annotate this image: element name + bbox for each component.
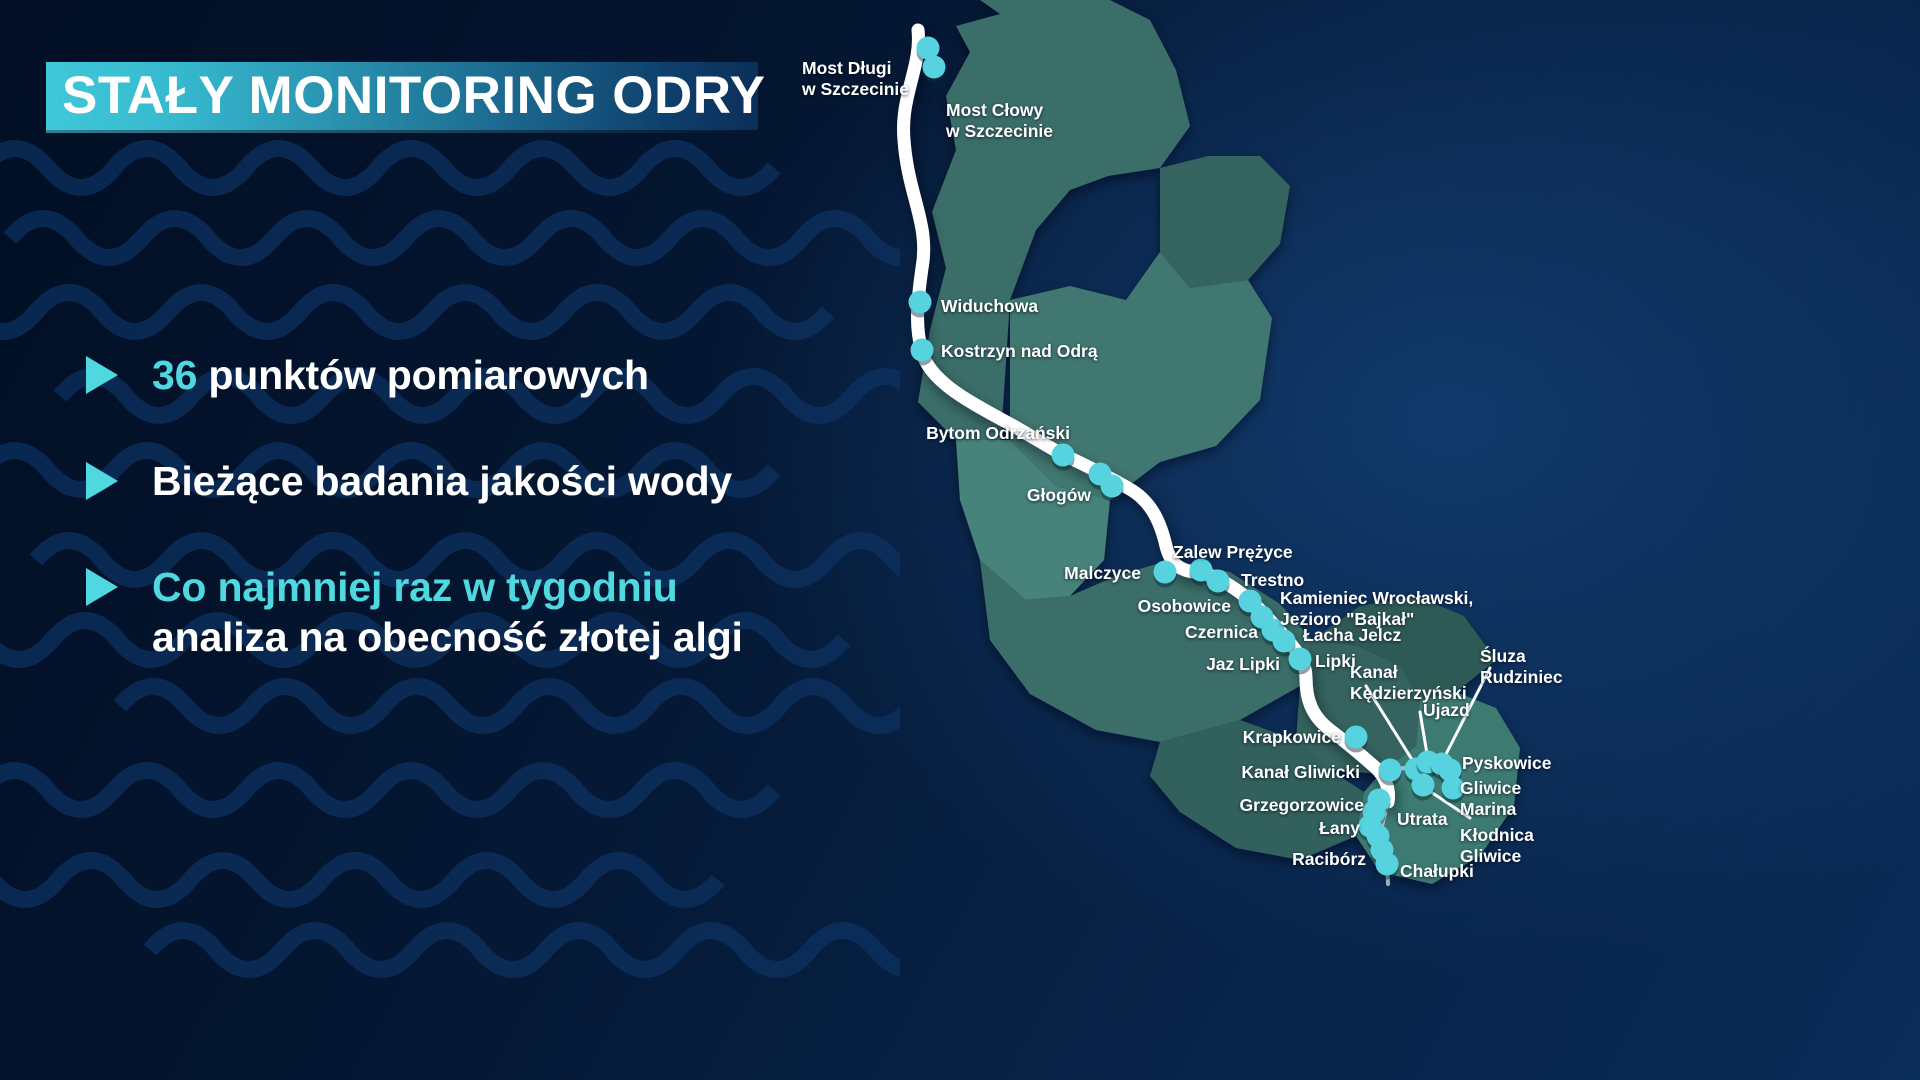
map-label-line: Marina (1460, 799, 1521, 820)
feature-list: 36 punktów pomiarowych Bieżące badania j… (86, 350, 886, 718)
map-marker-lacha-jelcz[interactable] (1273, 630, 1296, 653)
map-label-line: Czernica (1185, 622, 1258, 643)
map-label-malczyce: Malczyce (1064, 563, 1141, 584)
map-label-line: Kłodnica (1460, 825, 1534, 846)
region-pomorskie (1160, 156, 1290, 288)
map-label-line: Most Długi (802, 58, 909, 79)
bullet-text: Co najmniej raz w tygodniu analiza na ob… (86, 562, 886, 662)
map-label-kana-k-dzierzy-ski: KanałKędzierzyński (1350, 662, 1467, 703)
measurement-count: 36 (152, 352, 197, 398)
map-marker-malczyce[interactable] (1154, 561, 1177, 584)
map-label-line: Krapkowice (1243, 727, 1341, 748)
map-label-line: Zalew Prężyce (1173, 542, 1293, 563)
triangle-right-icon (86, 356, 118, 394)
map-label-line: Łany (1319, 818, 1360, 839)
region-wielkopolskie (1010, 252, 1272, 500)
map-label-line: Kamieniec Wrocławski, (1280, 588, 1473, 609)
map-label-widuchowa: Widuchowa (941, 296, 1038, 317)
map-marker-bytom-odrzanski[interactable] (1052, 444, 1075, 467)
map-label-acha-jelcz: Łacha Jelcz (1303, 625, 1401, 646)
map-label-most-c-owy-w-szczecinie: Most Cłowyw Szczecinie (946, 100, 1053, 141)
map-label-line: Kanał (1350, 662, 1467, 683)
map-label-kamieniec-wroc-awski-jezioro-bajka: Kamieniec Wrocławski,Jezioro "Bajkał" (1280, 588, 1473, 629)
map-label-line: w Szczecinie (802, 79, 909, 100)
map-label-line: Grzegorzowice (1240, 795, 1364, 816)
map-label-kana-gliwicki: Kanał Gliwicki (1241, 762, 1360, 783)
triangle-right-icon (86, 462, 118, 500)
map-label-grzegorzowice: Grzegorzowice (1240, 795, 1364, 816)
bullet-text: 36 punktów pomiarowych (86, 350, 886, 400)
map-label-jaz-lipki: Jaz Lipki (1206, 654, 1280, 675)
map-label-line: Pyskowice (1462, 753, 1552, 774)
map-marker-chalupki[interactable] (1376, 853, 1399, 876)
map-marker-kanal-gliwicki[interactable] (1379, 759, 1402, 782)
map-label-gliwice-marina: GliwiceMarina (1460, 778, 1521, 819)
map-label-pyskowice: Pyskowice (1462, 753, 1552, 774)
map-label-line: Ujazd (1423, 700, 1470, 721)
map-label-line: Osobowice (1138, 596, 1231, 617)
map-marker-widuchowa[interactable] (909, 291, 932, 314)
map-label-line: Kanał Gliwicki (1241, 762, 1360, 783)
map-label-line: Gliwice (1460, 778, 1521, 799)
map-label-luza-rudziniec: ŚluzaRudziniec (1480, 646, 1563, 687)
map-marker-lipki[interactable] (1289, 648, 1312, 671)
map-label-zalew-pr-yce: Zalew Prężyce (1173, 542, 1293, 563)
map-label-line: Rudziniec (1480, 667, 1563, 688)
map-label-line: Racibórz (1292, 849, 1366, 870)
map-label-utrata: Utrata (1397, 809, 1448, 830)
map-label-line: Bytom Odrzański (926, 423, 1070, 444)
list-item-measurement-points: 36 punktów pomiarowych (86, 350, 886, 400)
map-label-line: Malczyce (1064, 563, 1141, 584)
bullet-line-2: analiza na obecność złotej algi (152, 612, 886, 662)
map-label-cha-upki: Chałupki (1400, 861, 1474, 882)
triangle-right-icon (86, 568, 118, 606)
map-label-line: Widuchowa (941, 296, 1038, 317)
map-label-most-d-ugi-w-szczecinie: Most Długiw Szczecinie (802, 58, 909, 99)
page-title: STAŁY MONITORING ODRY (46, 62, 765, 130)
map-marker-trestno[interactable] (1207, 570, 1230, 593)
map-label-line: Śluza (1480, 646, 1563, 667)
map-marker-glogow-b[interactable] (1101, 475, 1124, 498)
map-label-bytom-odrza-ski: Bytom Odrzański (926, 423, 1070, 444)
map-label-line: w Szczecinie (946, 121, 1053, 142)
map-marker-krapkowice[interactable] (1345, 726, 1368, 749)
bullet-line-1: Co najmniej raz w tygodniu (152, 562, 886, 612)
bullet-text: Bieżące badania jakości wody (86, 456, 886, 506)
map-label-czernica: Czernica (1185, 622, 1258, 643)
map-label-line: Most Cłowy (946, 100, 1053, 121)
map-label-osobowice: Osobowice (1138, 596, 1231, 617)
map-marker-most-clowy[interactable] (923, 56, 946, 79)
list-item-weekly-analysis: Co najmniej raz w tygodniu analiza na ob… (86, 562, 886, 662)
map-label-line: Chałupki (1400, 861, 1474, 882)
map-label-any: Łany (1319, 818, 1360, 839)
map-label-g-og-w: Głogów (1027, 485, 1091, 506)
map-label-kostrzyn-nad-odr: Kostrzyn nad Odrą (941, 341, 1098, 362)
map-label-line: Łacha Jelcz (1303, 625, 1401, 646)
map-label-line: Utrata (1397, 809, 1448, 830)
map-label-line: Kostrzyn nad Odrą (941, 341, 1098, 362)
odra-river-map: Most Długiw SzczecinieMost Cłowyw Szczec… (860, 0, 1920, 1080)
map-label-line: Głogów (1027, 485, 1091, 506)
map-label-krapkowice: Krapkowice (1243, 727, 1341, 748)
title-text: STAŁY MONITORING ODRY (46, 62, 765, 130)
measurement-label: punktów pomiarowych (197, 352, 649, 398)
infographic-root: STAŁY MONITORING ODRY 36 punktów pomiaro… (0, 0, 1920, 1080)
map-label-line: Jaz Lipki (1206, 654, 1280, 675)
map-label-racib-rz: Racibórz (1292, 849, 1366, 870)
map-label-ujazd: Ujazd (1423, 700, 1470, 721)
list-item-water-quality: Bieżące badania jakości wody (86, 456, 886, 506)
map-svg (860, 0, 1920, 1080)
map-marker-klodnica-gliwice[interactable] (1412, 774, 1435, 797)
map-marker-kostrzyn[interactable] (911, 339, 934, 362)
